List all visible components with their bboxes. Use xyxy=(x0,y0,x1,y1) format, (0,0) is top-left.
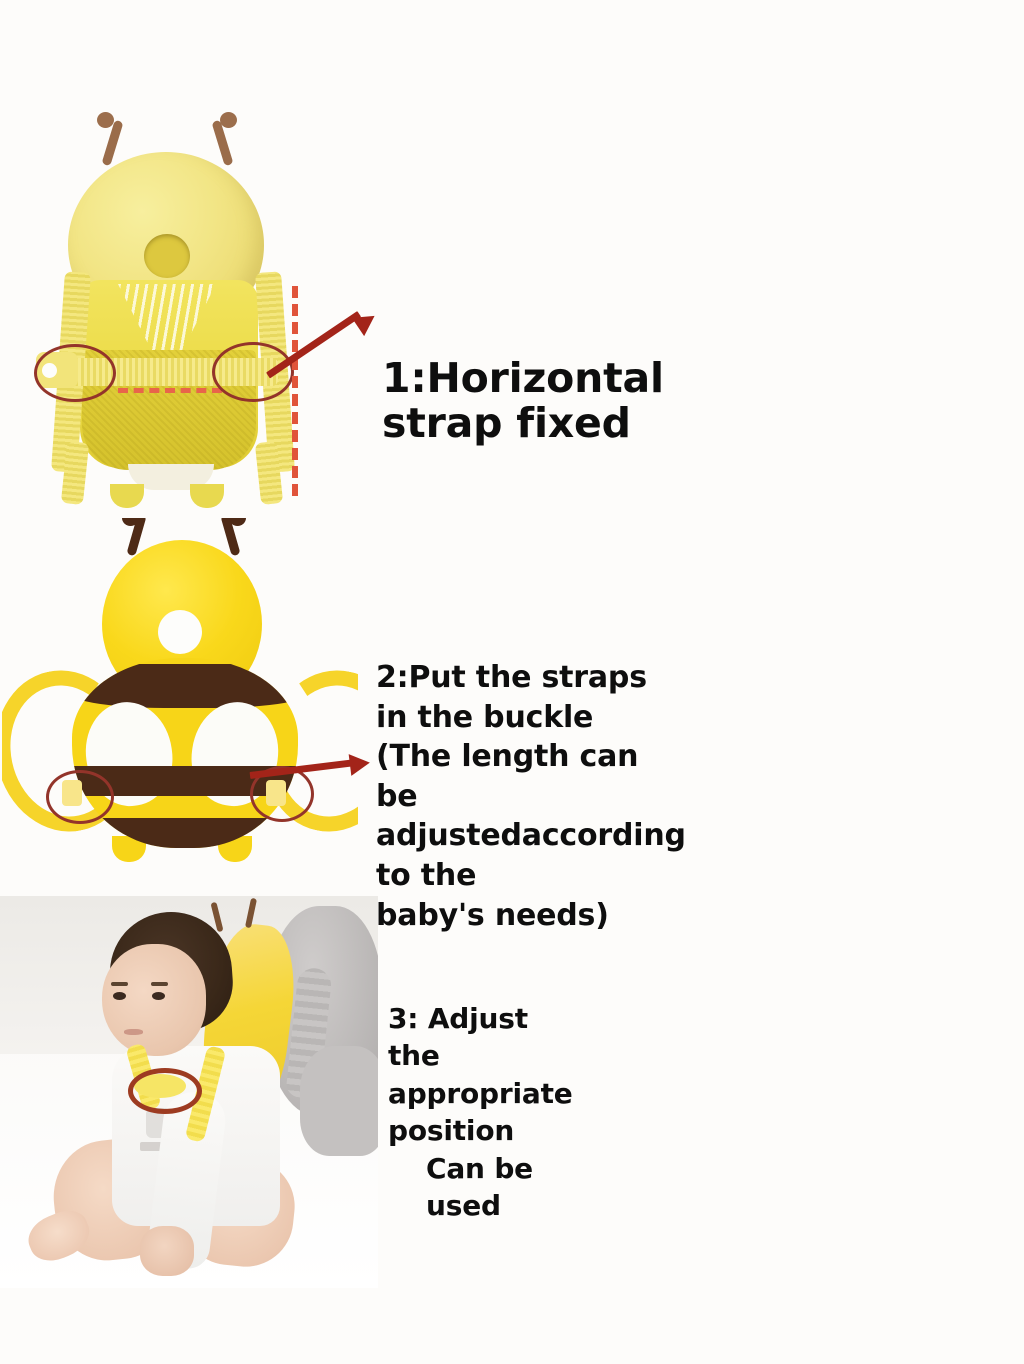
bee-head-hole xyxy=(144,234,190,278)
bee-head-protector-back-view-figure xyxy=(22,112,342,512)
annotation-ellipse-left-buckle xyxy=(34,344,116,402)
baby-hand xyxy=(140,1226,194,1276)
bee-head-hole xyxy=(158,610,202,654)
instruction-page: 1:Horizontal strap fixed xyxy=(0,0,1024,1364)
step-1-label: 1:Horizontal strap fixed xyxy=(382,356,664,446)
elephant-plush-body xyxy=(300,1046,378,1156)
bee-head-protector-front-view-figure xyxy=(2,518,358,870)
annotation-ellipse-left-buckle xyxy=(46,770,114,824)
step-2-label: 2:Put the straps in the buckle (The leng… xyxy=(376,658,686,935)
bee-stripe-top xyxy=(72,664,298,708)
dashed-vertical-line xyxy=(292,286,298,496)
antenna-left-knob xyxy=(97,112,114,128)
bee-body-front xyxy=(72,658,298,848)
bee-foot-left xyxy=(110,484,144,508)
baby-eyebrow-right xyxy=(151,982,168,986)
baby-face xyxy=(102,944,206,1056)
bee-stripe-bottom xyxy=(72,818,298,848)
step-3-line-1: 3: Adjust the appropriate position xyxy=(388,1002,573,1148)
antenna-right-knob xyxy=(220,112,237,128)
baby-wearing-head-protector-photo xyxy=(0,896,378,1288)
baby-eye-left xyxy=(113,992,126,1000)
baby-eye-right xyxy=(152,992,165,1000)
dashed-horizontal-line xyxy=(118,388,222,393)
annotation-ellipse-chest-strap xyxy=(128,1068,202,1114)
step-3-label: 3: Adjust the appropriate position Can b… xyxy=(388,962,573,1262)
baby-mouth xyxy=(124,1029,143,1035)
step-3-line-2: Can be used xyxy=(388,1150,573,1225)
arrow-head xyxy=(349,752,372,776)
baby-eyebrow-left xyxy=(111,982,128,986)
annotation-ellipse-right-buckle xyxy=(212,342,294,402)
bee-foot-right xyxy=(190,484,224,508)
